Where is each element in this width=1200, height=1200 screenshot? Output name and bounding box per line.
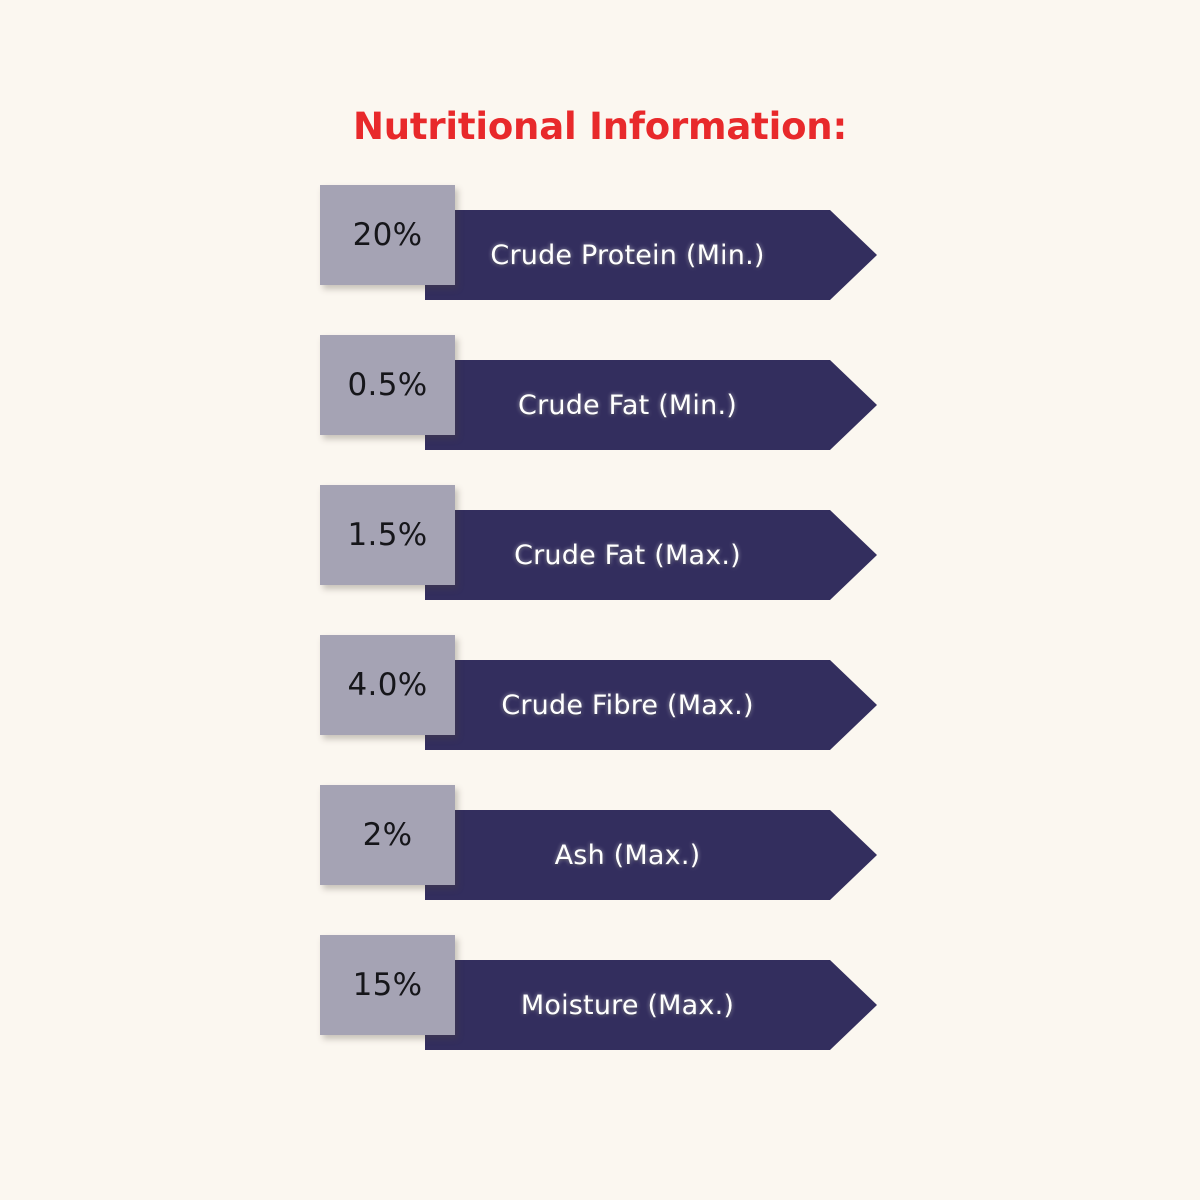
nutrient-label: Crude Fibre (Max.) bbox=[425, 660, 830, 750]
nutrient-label: Crude Protein (Min.) bbox=[425, 210, 830, 300]
nutrient-value: 4.0% bbox=[348, 667, 428, 703]
nutrient-row: Crude Fibre (Max.) 4.0% bbox=[0, 630, 1200, 780]
nutrient-row: Crude Fat (Max.) 1.5% bbox=[0, 480, 1200, 630]
nutrient-banner: Crude Fibre (Max.) bbox=[425, 660, 877, 750]
nutrient-value: 15% bbox=[353, 967, 423, 1003]
nutrient-banner: Moisture (Max.) bbox=[425, 960, 877, 1050]
nutrient-value-square: 15% bbox=[320, 935, 455, 1035]
nutrient-row: Ash (Max.) 2% bbox=[0, 780, 1200, 930]
nutrient-value-square: 0.5% bbox=[320, 335, 455, 435]
nutrient-row: Crude Fat (Min.) 0.5% bbox=[0, 330, 1200, 480]
nutrient-row: Moisture (Max.) 15% bbox=[0, 930, 1200, 1080]
page-title: Nutritional Information: bbox=[0, 105, 1200, 148]
nutrient-banner: Crude Fat (Min.) bbox=[425, 360, 877, 450]
nutrient-label: Ash (Max.) bbox=[425, 810, 830, 900]
nutrient-value-square: 2% bbox=[320, 785, 455, 885]
nutrient-label: Crude Fat (Max.) bbox=[425, 510, 830, 600]
nutrient-banner: Ash (Max.) bbox=[425, 810, 877, 900]
nutrient-value-square: 20% bbox=[320, 185, 455, 285]
nutrient-value: 20% bbox=[353, 217, 423, 253]
nutrient-banner: Crude Fat (Max.) bbox=[425, 510, 877, 600]
nutrient-value-square: 1.5% bbox=[320, 485, 455, 585]
nutrition-infographic: Nutritional Information: Crude Protein (… bbox=[0, 0, 1200, 1200]
nutrient-banner: Crude Protein (Min.) bbox=[425, 210, 877, 300]
nutrient-value: 0.5% bbox=[348, 367, 428, 403]
nutrient-value: 1.5% bbox=[348, 517, 428, 553]
nutrient-row: Crude Protein (Min.) 20% bbox=[0, 180, 1200, 330]
nutrient-value-square: 4.0% bbox=[320, 635, 455, 735]
nutrient-value: 2% bbox=[363, 817, 413, 853]
nutrient-label: Moisture (Max.) bbox=[425, 960, 830, 1050]
nutrient-label: Crude Fat (Min.) bbox=[425, 360, 830, 450]
